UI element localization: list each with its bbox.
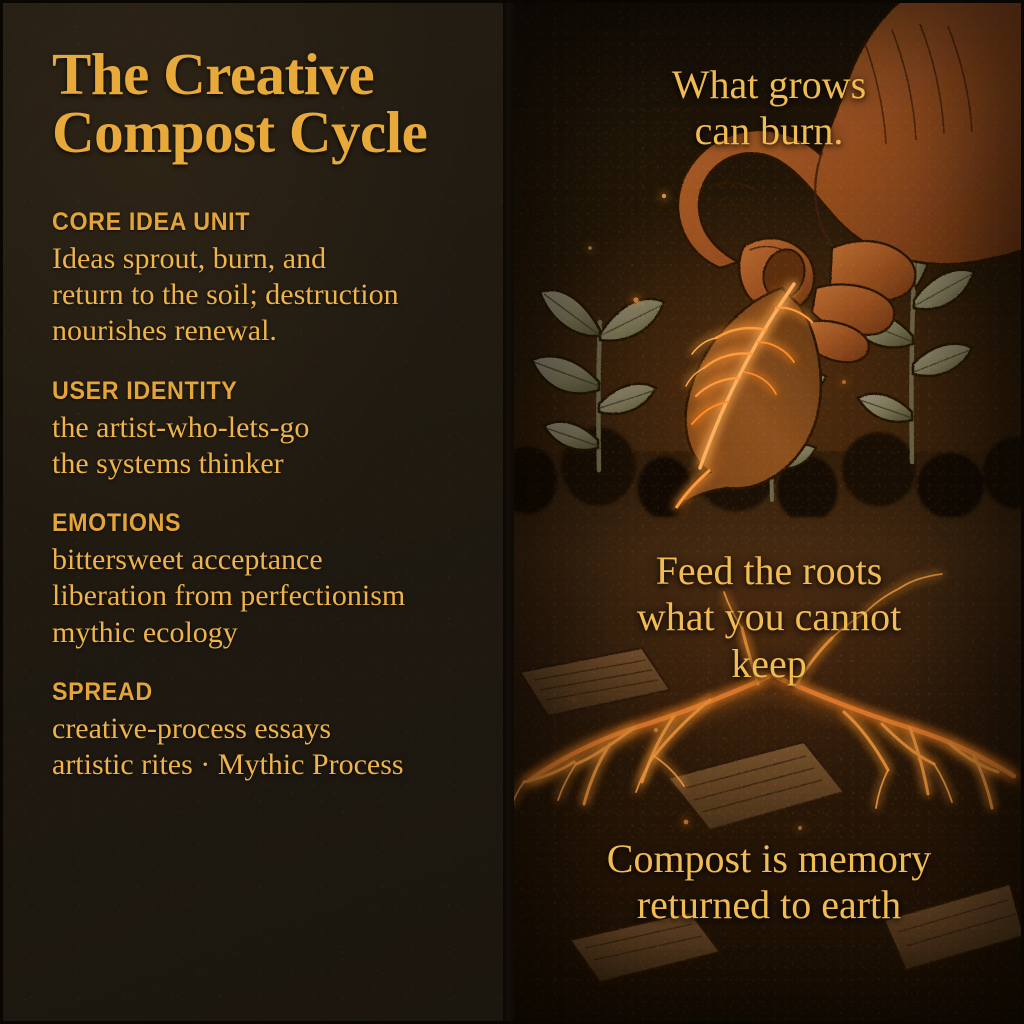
body-line: nourishes renewal. [52, 313, 493, 349]
section-heading: SPREAD [52, 678, 462, 707]
caption-line: Feed the roots [530, 548, 1008, 594]
section-body: bittersweet acceptance liberation from p… [52, 542, 493, 651]
caption-middle: Feed the roots what you cannot keep [514, 548, 1024, 687]
title-line-2: Compost Cycle [52, 104, 493, 162]
body-line: mythic ecology [52, 615, 493, 651]
section-emotions: EMOTIONS bittersweet acceptance liberati… [52, 509, 493, 651]
caption-line: what you cannot [530, 594, 1008, 640]
hand [678, 0, 1024, 362]
section-body: creative-process essays artistic rites ·… [52, 711, 493, 784]
title-line-1: The Creative [52, 46, 493, 104]
body-line: artistic rites · Mythic Process [52, 747, 493, 783]
poster: The Creative Compost Cycle CORE IDEA UNI… [0, 0, 1024, 1024]
seedling-left [532, 290, 664, 470]
section-body: the artist-who-lets-go the systems think… [52, 410, 493, 483]
section-heading: USER IDENTITY [52, 377, 462, 406]
panel-divider [503, 0, 514, 1024]
ember-leaf [674, 284, 821, 508]
right-illustration-panel: What grows can burn. Feed the roots what… [514, 0, 1024, 1024]
body-line: liberation from perfectionism [52, 578, 493, 614]
body-line: Ideas sprout, burn, and [52, 241, 493, 277]
section-core-idea-unit: CORE IDEA UNIT Ideas sprout, burn, and r… [52, 208, 493, 350]
body-line: the systems thinker [52, 446, 493, 482]
section-heading: EMOTIONS [52, 509, 462, 538]
caption-line: keep [530, 641, 1008, 687]
body-line: return to the soil; destruction [52, 277, 493, 313]
caption-bottom: Compost is memory returned to earth [514, 836, 1024, 929]
body-line: the artist-who-lets-go [52, 410, 493, 446]
buried-papers [520, 648, 1024, 982]
body-line: creative-process essays [52, 711, 493, 747]
caption-line: What grows [530, 62, 1008, 108]
caption-line: Compost is memory [530, 836, 1008, 882]
section-body: Ideas sprout, burn, and return to the so… [52, 241, 493, 350]
section-user-identity: USER IDENTITY the artist-who-lets-go the… [52, 377, 493, 483]
section-spread: SPREAD creative-process essays artistic … [52, 678, 493, 784]
left-text-panel: The Creative Compost Cycle CORE IDEA UNI… [0, 0, 503, 1024]
section-heading: CORE IDEA UNIT [52, 208, 462, 237]
page-title: The Creative Compost Cycle [52, 46, 493, 162]
caption-line: returned to earth [530, 882, 1008, 928]
body-line: bittersweet acceptance [52, 542, 493, 578]
caption-top: What grows can burn. [514, 62, 1024, 153]
caption-line: can burn. [530, 108, 1008, 154]
